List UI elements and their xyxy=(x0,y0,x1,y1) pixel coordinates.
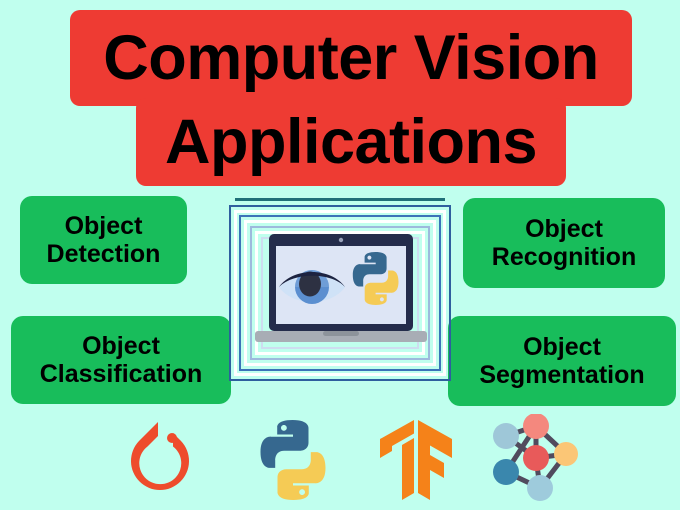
pytorch-logo-icon xyxy=(118,420,202,500)
category-card-object-segmentation[interactable]: Object Segmentation xyxy=(448,316,676,406)
neural-network-icon xyxy=(488,414,582,502)
category-card-object-classification[interactable]: Object Classification xyxy=(11,316,231,404)
python-logo-icon xyxy=(258,418,328,502)
poster-canvas: Computer Vision Applications Object Dete… xyxy=(0,0,680,510)
laptop-icon xyxy=(255,234,427,352)
page-title-line-1: Computer Vision xyxy=(70,10,632,106)
category-label-line-2: Classification xyxy=(40,360,203,388)
network-node-hidden-low xyxy=(527,475,553,501)
laptop-trackpad-notch xyxy=(323,331,359,336)
category-label-line-2: Detection xyxy=(47,240,161,268)
laptop-camera-icon xyxy=(339,238,343,242)
frame-top-rule xyxy=(235,198,445,201)
center-illustration xyxy=(229,198,451,381)
page-title-line-2: Applications xyxy=(136,98,566,186)
category-label-line-1: Object xyxy=(525,215,603,243)
category-label-line-1: Object xyxy=(65,212,143,240)
network-node-hidden-mid xyxy=(523,445,549,471)
network-node-input-top xyxy=(493,423,519,449)
category-label-line-1: Object xyxy=(523,333,601,361)
category-card-object-recognition[interactable]: Object Recognition xyxy=(463,198,665,288)
category-label-line-1: Object xyxy=(82,332,160,360)
category-card-object-detection[interactable]: Object Detection xyxy=(20,196,187,284)
tensorflow-logo-icon xyxy=(378,418,454,502)
network-node-hidden-top xyxy=(523,414,549,439)
network-node-input-bottom xyxy=(493,459,519,485)
category-label-line-2: Recognition xyxy=(492,243,636,271)
category-label-line-2: Segmentation xyxy=(479,361,644,389)
network-node-output xyxy=(554,442,578,466)
